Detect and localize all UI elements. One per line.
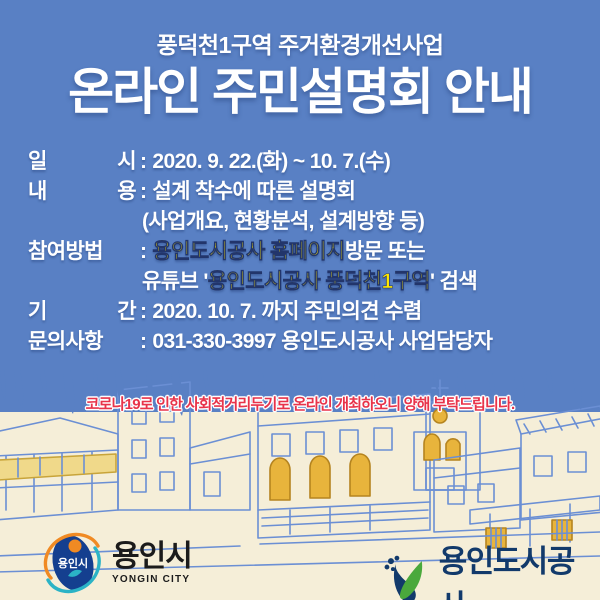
detail-value-content: 설계 착수에 따른 설명회 bbox=[152, 175, 355, 205]
detail-value-youtube-highlight: 용인도시공사 풍덕천1구역 bbox=[208, 265, 430, 295]
detail-list: 일 시 : 2020. 9. 22.(화) ~ 10. 7.(수) 내 용 : … bbox=[28, 145, 580, 355]
yongin-city-emblem-icon: 용인시 bbox=[42, 530, 104, 596]
page-title: 온라인 주민설명회 안내 bbox=[0, 66, 600, 119]
detail-value-date: 2020. 9. 22.(화) ~ 10. 7.(수) bbox=[152, 145, 390, 175]
detail-value-inquiry: 031-330-3997 용인도시공사 사업담당자 bbox=[152, 325, 492, 355]
covid-notice: 코로나19로 인한 사회적거리두기로 온라인 개최하오니 양해 부탁드립니다. bbox=[0, 393, 600, 414]
detail-colon-date: : bbox=[140, 150, 152, 174]
detail-value-participation-tail: 방문 또는 bbox=[345, 235, 425, 265]
detail-value-participation-highlight: 용인도시공사 홈페이지 bbox=[152, 235, 344, 265]
poster-subtitle: 풍덕천1구역 주거환경개선사업 bbox=[0, 26, 600, 60]
detail-label-date: 일 시 bbox=[28, 145, 140, 175]
detail-label-period: 기 간 bbox=[28, 295, 140, 325]
detail-row-inquiry: 문의사항 : 031-330-3997 용인도시공사 사업담당자 bbox=[28, 325, 580, 355]
yongin-corporation-emblem-icon bbox=[382, 555, 432, 600]
yongin-city-name-en: YONGIN CITY bbox=[112, 575, 192, 585]
detail-value-youtube-tail: ' 검색 bbox=[430, 265, 477, 295]
detail-colon-inquiry: : bbox=[140, 330, 152, 354]
detail-label-inquiry: 문의사항 bbox=[28, 325, 140, 355]
detail-row-content-sub: (사업개요, 현황분석, 설계방향 등) bbox=[28, 205, 580, 235]
yongin-city-logo: 용인시 용인시 YONGIN CITY bbox=[42, 530, 192, 596]
detail-row-content: 내 용 : 설계 착수에 따른 설명회 bbox=[28, 175, 580, 205]
detail-value-content-sub: (사업개요, 현황분석, 설계방향 등) bbox=[28, 205, 424, 235]
detail-row-participation: 참여방법 : 용인도시공사 홈페이지 방문 또는 bbox=[28, 235, 580, 265]
yongin-city-name-ko: 용인시 bbox=[112, 542, 192, 572]
yongin-corporation-name: 용인도시공사 bbox=[439, 536, 600, 600]
poster-canvas: 풍덕천1구역 주거환경개선사업 온라인 주민설명회 안내 일 시 : 2020.… bbox=[0, 0, 600, 600]
detail-label-content: 내 용 bbox=[28, 175, 140, 205]
detail-row-participation-sub: 유튜브 ' 용인도시공사 풍덕천1구역 ' 검색 bbox=[28, 265, 580, 295]
svg-text:용인시: 용인시 bbox=[58, 556, 88, 570]
detail-row-period: 기 간 : 2020. 10. 7. 까지 주민의견 수렴 bbox=[28, 295, 580, 325]
detail-colon-content: : bbox=[140, 180, 152, 204]
yongin-corporation-logo: 용인도시공사 bbox=[382, 536, 600, 600]
detail-value-period: 2020. 10. 7. 까지 주민의견 수렴 bbox=[152, 295, 421, 325]
detail-label-participation: 참여방법 bbox=[28, 235, 140, 265]
detail-row-date: 일 시 : 2020. 9. 22.(화) ~ 10. 7.(수) bbox=[28, 145, 580, 175]
detail-colon-participation: : bbox=[140, 240, 152, 264]
yongin-city-wordmark: 용인시 YONGIN CITY bbox=[112, 542, 192, 585]
detail-value-youtube-lead: 유튜브 ' bbox=[28, 265, 208, 295]
detail-colon-period: : bbox=[140, 300, 152, 324]
